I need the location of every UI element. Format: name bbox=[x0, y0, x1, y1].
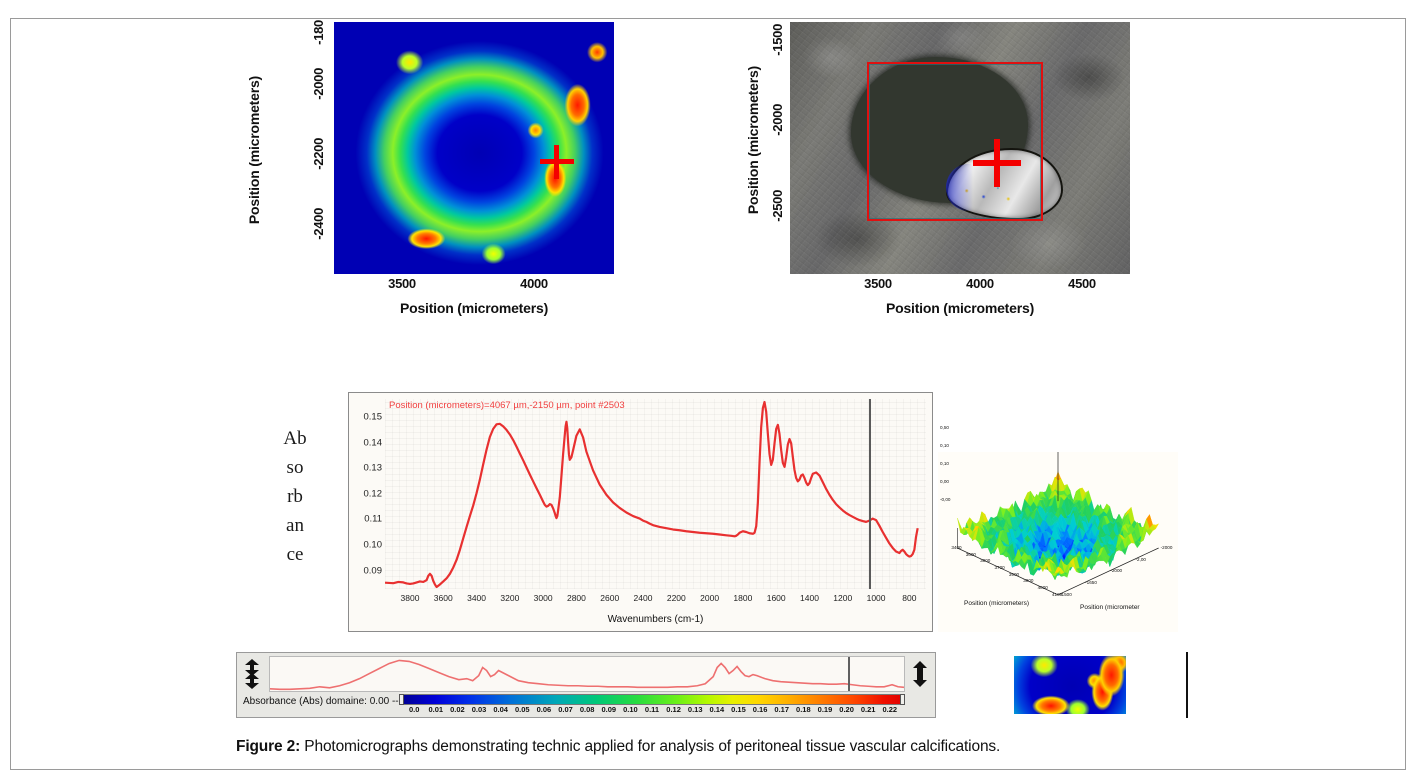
spectrum-x-tick: 3400 bbox=[467, 593, 486, 603]
colorbar-tick: 0.22 bbox=[883, 705, 898, 714]
surface-y-tick: -1500 bbox=[1060, 592, 1072, 597]
map-y-ticks: -180 -2000 -2200 -2400 bbox=[292, 22, 330, 274]
absorbance-line-2: so bbox=[272, 453, 318, 482]
spectrum-x-tick: 2600 bbox=[600, 593, 619, 603]
colorbar-tick: 0.16 bbox=[753, 705, 768, 714]
colorbar-tick: 0.01 bbox=[428, 705, 443, 714]
surface-y-axis-title: Position (micrometer bbox=[1080, 604, 1140, 611]
colorbar-min-handle[interactable] bbox=[399, 694, 404, 705]
surface-x-tick: 3700 bbox=[994, 565, 1004, 570]
overview-spectrum-trace bbox=[270, 657, 904, 691]
spectrum-plot-area[interactable] bbox=[385, 399, 926, 589]
surface-x-tick: 3800 bbox=[980, 558, 990, 563]
figure-page: Position (micrometers) -180 -2000 -2200 … bbox=[0, 0, 1416, 782]
colorbar-tick: 0.19 bbox=[818, 705, 833, 714]
colorbar-tick: 0.08 bbox=[580, 705, 595, 714]
spectrum-y-tick: 0.09 bbox=[364, 565, 383, 576]
spectrum-x-tick: 2400 bbox=[634, 593, 653, 603]
colorbar-tick: 0.02 bbox=[450, 705, 465, 714]
spectrum-x-tick: 1000 bbox=[867, 593, 886, 603]
surface-z-tick: -0,00 bbox=[940, 497, 950, 502]
spectrum-x-tick: 2000 bbox=[700, 593, 719, 603]
colorbar-tick: 0.21 bbox=[861, 705, 876, 714]
micrograph-x-ticks: 3500 4000 4500 bbox=[790, 276, 1130, 298]
surface-y-tick: -2000 bbox=[1161, 545, 1173, 550]
absorbance-line-1: Ab bbox=[272, 424, 318, 453]
absorbance-line-3: rb bbox=[272, 482, 318, 511]
colorbar-tick: 0.11 bbox=[645, 705, 659, 714]
surface-z-tick: 0,00 bbox=[940, 479, 949, 484]
spectrum-x-tick: 1200 bbox=[833, 593, 852, 603]
surface-x-tick: 3400 bbox=[951, 545, 961, 550]
spectrum-y-ticks: 0.150.140.130.120.110.100.09 bbox=[349, 399, 382, 589]
colorbar-tick: 0.10 bbox=[623, 705, 638, 714]
map-plot-area[interactable] bbox=[334, 22, 614, 274]
spectrum-plot[interactable]: 0.150.140.130.120.110.100.09 Position (m… bbox=[348, 392, 933, 632]
resize-vertical-handle-right-icon[interactable] bbox=[907, 656, 933, 692]
surface-z-tick: 0,10 bbox=[940, 443, 949, 448]
colorbar-tick: 0.07 bbox=[558, 705, 573, 714]
spectrum-x-tick: 800 bbox=[902, 593, 916, 603]
colorbar-tick: 0.20 bbox=[839, 705, 854, 714]
colorbar-tick: 0.0 bbox=[409, 705, 419, 714]
roi-rectangle[interactable] bbox=[867, 62, 1044, 221]
colorbar-tick: 0.09 bbox=[601, 705, 616, 714]
colorbar-toolbar[interactable]: Absorbance (Abs) domaine: 0.00 -- 0.23 0… bbox=[236, 652, 936, 718]
map-x-axis-title: Position (micrometers) bbox=[334, 300, 614, 316]
spectrum-y-tick: 0.15 bbox=[364, 411, 383, 422]
surface-z-tick: 0,10 bbox=[940, 461, 949, 466]
spectrum-y-tick: 0.12 bbox=[364, 488, 383, 499]
map-y-axis-title: Position (micrometers) bbox=[246, 76, 262, 224]
absorbance-axis-title: Ab so rb an ce bbox=[272, 424, 318, 569]
spectrum-y-tick: 0.10 bbox=[364, 539, 383, 550]
spectrum-x-tick: 1400 bbox=[800, 593, 819, 603]
figure-caption: Figure 2: Photomicrographs demonstrating… bbox=[236, 738, 1196, 756]
spectrum-cursor-line[interactable] bbox=[869, 399, 871, 589]
colorbar-tick: 0.17 bbox=[774, 705, 789, 714]
spectrum-x-tick: 3000 bbox=[534, 593, 553, 603]
surface-x-tick: 3900 bbox=[1009, 572, 1019, 577]
surface-z-tick: 0,50 bbox=[940, 425, 949, 430]
surface-x-tick: 3900 bbox=[1023, 578, 1033, 583]
micrograph-plot-area[interactable] bbox=[790, 22, 1130, 274]
map-thumbnail[interactable] bbox=[1014, 656, 1126, 714]
resize-vertical-handle-left-icon[interactable] bbox=[239, 656, 265, 692]
spectrum-y-tick: 0.11 bbox=[364, 514, 382, 525]
figure-label: Figure 2: bbox=[236, 738, 300, 755]
spectrum-x-tick: 3800 bbox=[401, 593, 420, 603]
surface-3d-panel[interactable]: Position (micrometers) Position (microme… bbox=[938, 452, 1178, 632]
colorbar-tick: 0.04 bbox=[493, 705, 508, 714]
figure-caption-text: Photomicrographs demonstrating technic a… bbox=[304, 738, 1000, 755]
overview-cursor-line[interactable] bbox=[848, 657, 850, 691]
spectrum-annotation: Position (micrometers)=4067 µm,-2150 µm,… bbox=[389, 400, 625, 411]
ir-chemical-map-panel: Position (micrometers) -180 -2000 -2200 … bbox=[244, 22, 629, 312]
colorbar-tick: 0.15 bbox=[731, 705, 746, 714]
colorbar-tick: 0.06 bbox=[537, 705, 552, 714]
overview-spectrum-strip[interactable] bbox=[269, 656, 905, 692]
spectrum-x-ticks: 3800360034003200300028002600240022002000… bbox=[385, 593, 926, 605]
spectrum-y-tick: 0.14 bbox=[364, 437, 383, 448]
thumbnail-jet-image bbox=[1014, 656, 1126, 714]
surface-y-tick: -1650 bbox=[1085, 580, 1097, 585]
colorbar-tick: 0.05 bbox=[515, 705, 530, 714]
surface-x-tick: 3600 bbox=[966, 552, 976, 557]
thumbnail-panel bbox=[950, 652, 1188, 718]
surface-x-axis-title: Position (micrometers) bbox=[964, 600, 1029, 607]
jet-colormap-image bbox=[334, 22, 614, 274]
surface-x-tick: 4000 bbox=[1038, 585, 1048, 590]
colorbar-row: Absorbance (Abs) domaine: 0.00 -- 0.23 0… bbox=[239, 694, 933, 715]
micrograph-y-ticks: -1500 -2000 -2500 bbox=[751, 22, 787, 274]
colorbar-tick: 0.13 bbox=[688, 705, 703, 714]
spectrum-x-tick: 1800 bbox=[733, 593, 752, 603]
colorbar-domain-label: Absorbance (Abs) domaine: 0.00 -- 0.23 bbox=[243, 696, 421, 707]
colorbar-tick: 0.14 bbox=[710, 705, 725, 714]
micrograph-x-axis-title: Position (micrometers) bbox=[790, 300, 1130, 316]
micrograph-crosshair-marker bbox=[997, 163, 998, 164]
spectrum-x-tick: 1600 bbox=[767, 593, 786, 603]
colorbar-widget[interactable]: 0.00.010.020.030.040.050.060.070.080.090… bbox=[399, 694, 905, 715]
spectrum-x-tick: 3200 bbox=[500, 593, 519, 603]
map-crosshair-marker bbox=[557, 162, 558, 163]
absorbance-line-5: ce bbox=[272, 540, 318, 569]
spectrum-x-tick: 2800 bbox=[567, 593, 586, 603]
colorbar-tick: 0.03 bbox=[472, 705, 487, 714]
map-x-ticks: 3500 4000 bbox=[334, 276, 614, 298]
spectrum-trace bbox=[385, 399, 926, 589]
spectrum-x-tick: 2200 bbox=[667, 593, 686, 603]
spectrum-x-tick: 3600 bbox=[434, 593, 453, 603]
colorbar-max-handle[interactable] bbox=[900, 694, 905, 705]
absorbance-line-4: an bbox=[272, 511, 318, 540]
surface-y-tick: -2,00 bbox=[1135, 557, 1145, 562]
colorbar-gradient[interactable] bbox=[399, 694, 905, 705]
colorbar-tick: 0.12 bbox=[666, 705, 681, 714]
spectrum-x-axis-title: Wavenumbers (cm-1) bbox=[385, 614, 926, 625]
micrograph-panel: Position (micrometers) -1500 -2000 -2500… bbox=[745, 22, 1140, 312]
colorbar-tick: 0.18 bbox=[796, 705, 811, 714]
spectrum-y-tick: 0.13 bbox=[364, 463, 383, 474]
surface-y-tick: -2000 bbox=[1110, 568, 1122, 573]
